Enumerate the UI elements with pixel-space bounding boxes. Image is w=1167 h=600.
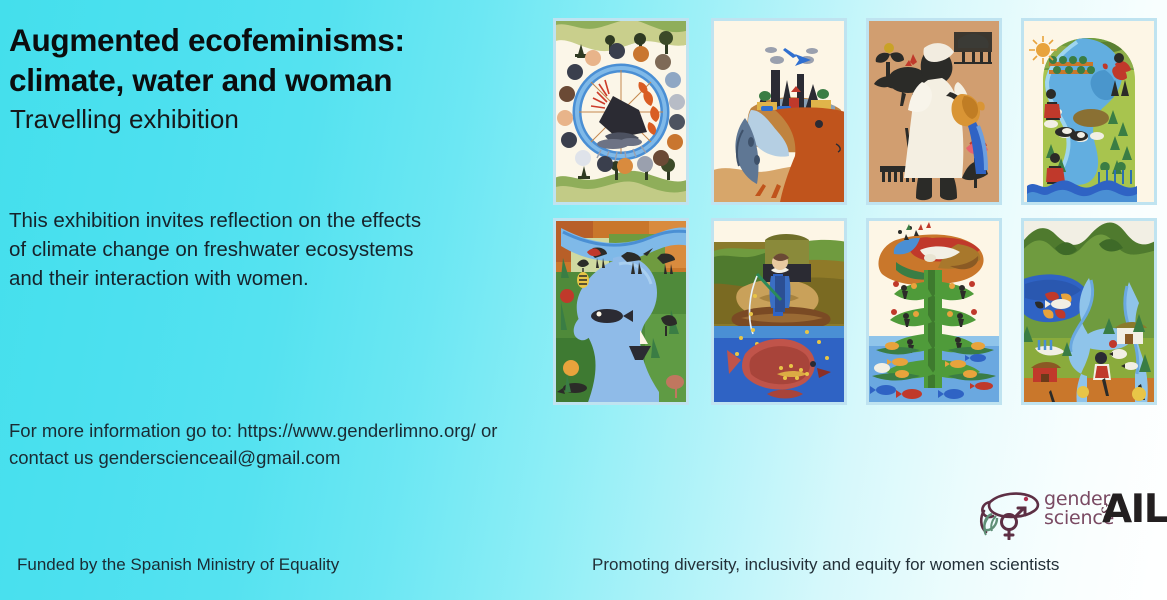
artwork-thumbnail-2[interactable]	[711, 18, 847, 205]
description-text: This exhibition invites reflection on th…	[9, 206, 554, 293]
fish-leaf-gender-symbol-icon	[974, 486, 1046, 540]
artwork-thumbnail-7[interactable]	[866, 218, 1002, 405]
description-line-3: and their interaction with women.	[9, 264, 554, 293]
logo-word-ail: AIL	[1102, 487, 1167, 532]
tagline: Promoting diversity, inclusivity and equ…	[592, 555, 1059, 575]
contact-info: For more information go to: https://www.…	[9, 417, 669, 472]
artwork-thumbnail-3[interactable]	[866, 18, 1002, 205]
description-line-2: of climate change on freshwater ecosyste…	[9, 235, 554, 264]
artwork-thumbnail-8[interactable]	[1021, 218, 1157, 405]
artwork-thumbnail-4[interactable]	[1021, 18, 1157, 205]
funding-statement: Funded by the Spanish Ministry of Equali…	[17, 555, 339, 575]
artwork-thumbnail-1[interactable]	[553, 18, 689, 205]
artwork-grid	[553, 18, 1165, 408]
page-title: Augmented ecofeminisms: climate, water a…	[9, 21, 529, 100]
artwork-thumbnail-6[interactable]	[711, 218, 847, 405]
artwork-thumbnail-5[interactable]	[553, 218, 689, 405]
subtitle: Travelling exhibition	[10, 104, 530, 135]
logo-wordmark: gender science & AIL	[1044, 488, 1164, 540]
exhibition-poster: Augmented ecofeminisms: climate, water a…	[0, 0, 1167, 600]
gender-science-ail-logo: gender science & AIL	[974, 484, 1164, 544]
title-line-2: climate, water and woman	[9, 61, 529, 101]
contact-email-line[interactable]: contact us genderscienceail@gmail.com	[9, 444, 669, 471]
title-line-1: Augmented ecofeminisms:	[9, 22, 405, 58]
contact-website-line[interactable]: For more information go to: https://www.…	[9, 417, 669, 444]
description-line-1: This exhibition invites reflection on th…	[9, 206, 554, 235]
